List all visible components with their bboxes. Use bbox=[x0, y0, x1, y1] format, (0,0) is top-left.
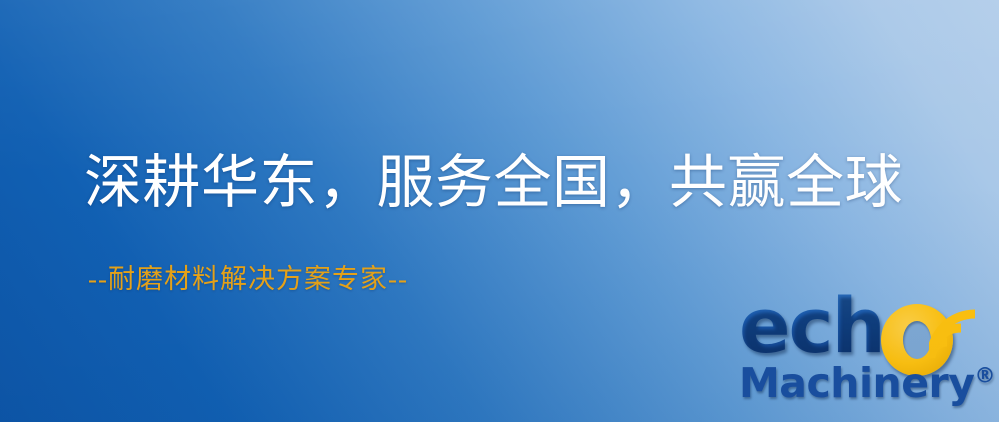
logo-o-counter bbox=[903, 321, 931, 359]
logo-tagline-text: Machinery bbox=[739, 359, 974, 407]
signal-wave-icon bbox=[929, 288, 993, 360]
logo-tagline: Machinery® bbox=[739, 363, 995, 404]
signal-wave-svg bbox=[929, 288, 993, 360]
banner-headline: 深耕华东，服务全国，共赢全球 bbox=[84, 152, 903, 215]
echo-machinery-logo: ech Machinery® bbox=[731, 290, 993, 422]
banner-subtitle: --耐磨材料解决方案专家-- bbox=[88, 265, 408, 295]
logo-wordmark: ech bbox=[739, 288, 884, 364]
logo-wordmark-text: ech bbox=[739, 281, 884, 370]
registered-trademark-icon: ® bbox=[974, 363, 995, 387]
hero-banner: 深耕华东，服务全国，共赢全球 --耐磨材料解决方案专家-- ech Machin… bbox=[0, 0, 999, 422]
